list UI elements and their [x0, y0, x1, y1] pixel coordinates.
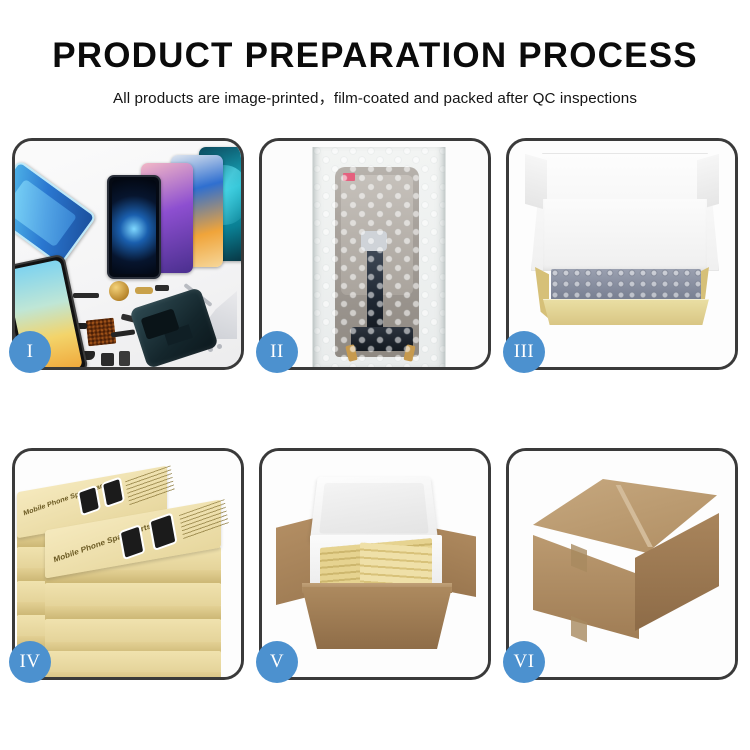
bubble-wrap-bag [312, 147, 446, 367]
small-black-part [155, 285, 169, 291]
step-badge-5: V [256, 641, 298, 683]
step-panel-5: V [259, 448, 491, 680]
box-right-3 [45, 619, 221, 643]
blue-phone-screen [15, 160, 97, 267]
camera-module-part [101, 353, 114, 366]
step-badge-1: I [9, 331, 51, 373]
gold-connector-part [135, 287, 153, 294]
button-part [119, 351, 130, 366]
step-panel-3: III [506, 138, 738, 370]
tray-front-wall [543, 299, 709, 325]
header: PRODUCT PREPARATION PROCESS All products… [0, 0, 750, 108]
foam-lid-open [310, 477, 438, 542]
box-spec-lines-back [125, 465, 175, 506]
infographic-page: PRODUCT PREPARATION PROCESS All products… [0, 0, 750, 750]
spare-parts-assortment-photo [15, 141, 241, 367]
step-badge-3: III [503, 331, 545, 373]
step-panel-2: II [259, 138, 491, 370]
phone-screen-dark-blue [107, 175, 161, 279]
step-panel-1: I [12, 138, 244, 370]
bag-edge-shading [313, 147, 445, 367]
step-badge-4: IV [9, 641, 51, 683]
inner-box-packing-photo [509, 141, 735, 367]
box-stack: Mobile Phone Spare Parts Mobile Phone Sp… [15, 451, 241, 677]
step-badge-6: VI [503, 641, 545, 683]
box-screen-image-back-1 [79, 487, 99, 514]
box-screen-image-back-2 [103, 479, 123, 506]
process-steps-grid: I II [12, 138, 738, 690]
stacked-retail-boxes-photo: Mobile Phone Spare Parts Mobile Phone Sp… [15, 451, 241, 677]
box-screen-image-front-2 [151, 515, 176, 549]
bubble-wrapped-contents [551, 269, 701, 301]
flex-cable-part [73, 293, 99, 298]
step-panel-4: Mobile Phone Spare Parts Mobile Phone Sp… [12, 448, 244, 680]
step-panel-6: VI [506, 448, 738, 680]
step-badge-2: II [256, 331, 298, 373]
sealed-shipping-carton-photo [509, 451, 735, 677]
box-right-2 [45, 583, 221, 607]
foam-lined-carton-photo [262, 451, 488, 677]
box-right-4 [45, 651, 221, 673]
bubble-wrapped-screen-photo [262, 141, 488, 367]
foam-inner-sheet [543, 199, 707, 271]
carton-body [302, 587, 452, 649]
page-title: PRODUCT PREPARATION PROCESS [0, 0, 750, 73]
box-spec-lines-front [179, 499, 229, 540]
page-subtitle: All products are image-printed，film-coat… [0, 73, 750, 108]
copper-ring-part [109, 281, 129, 301]
